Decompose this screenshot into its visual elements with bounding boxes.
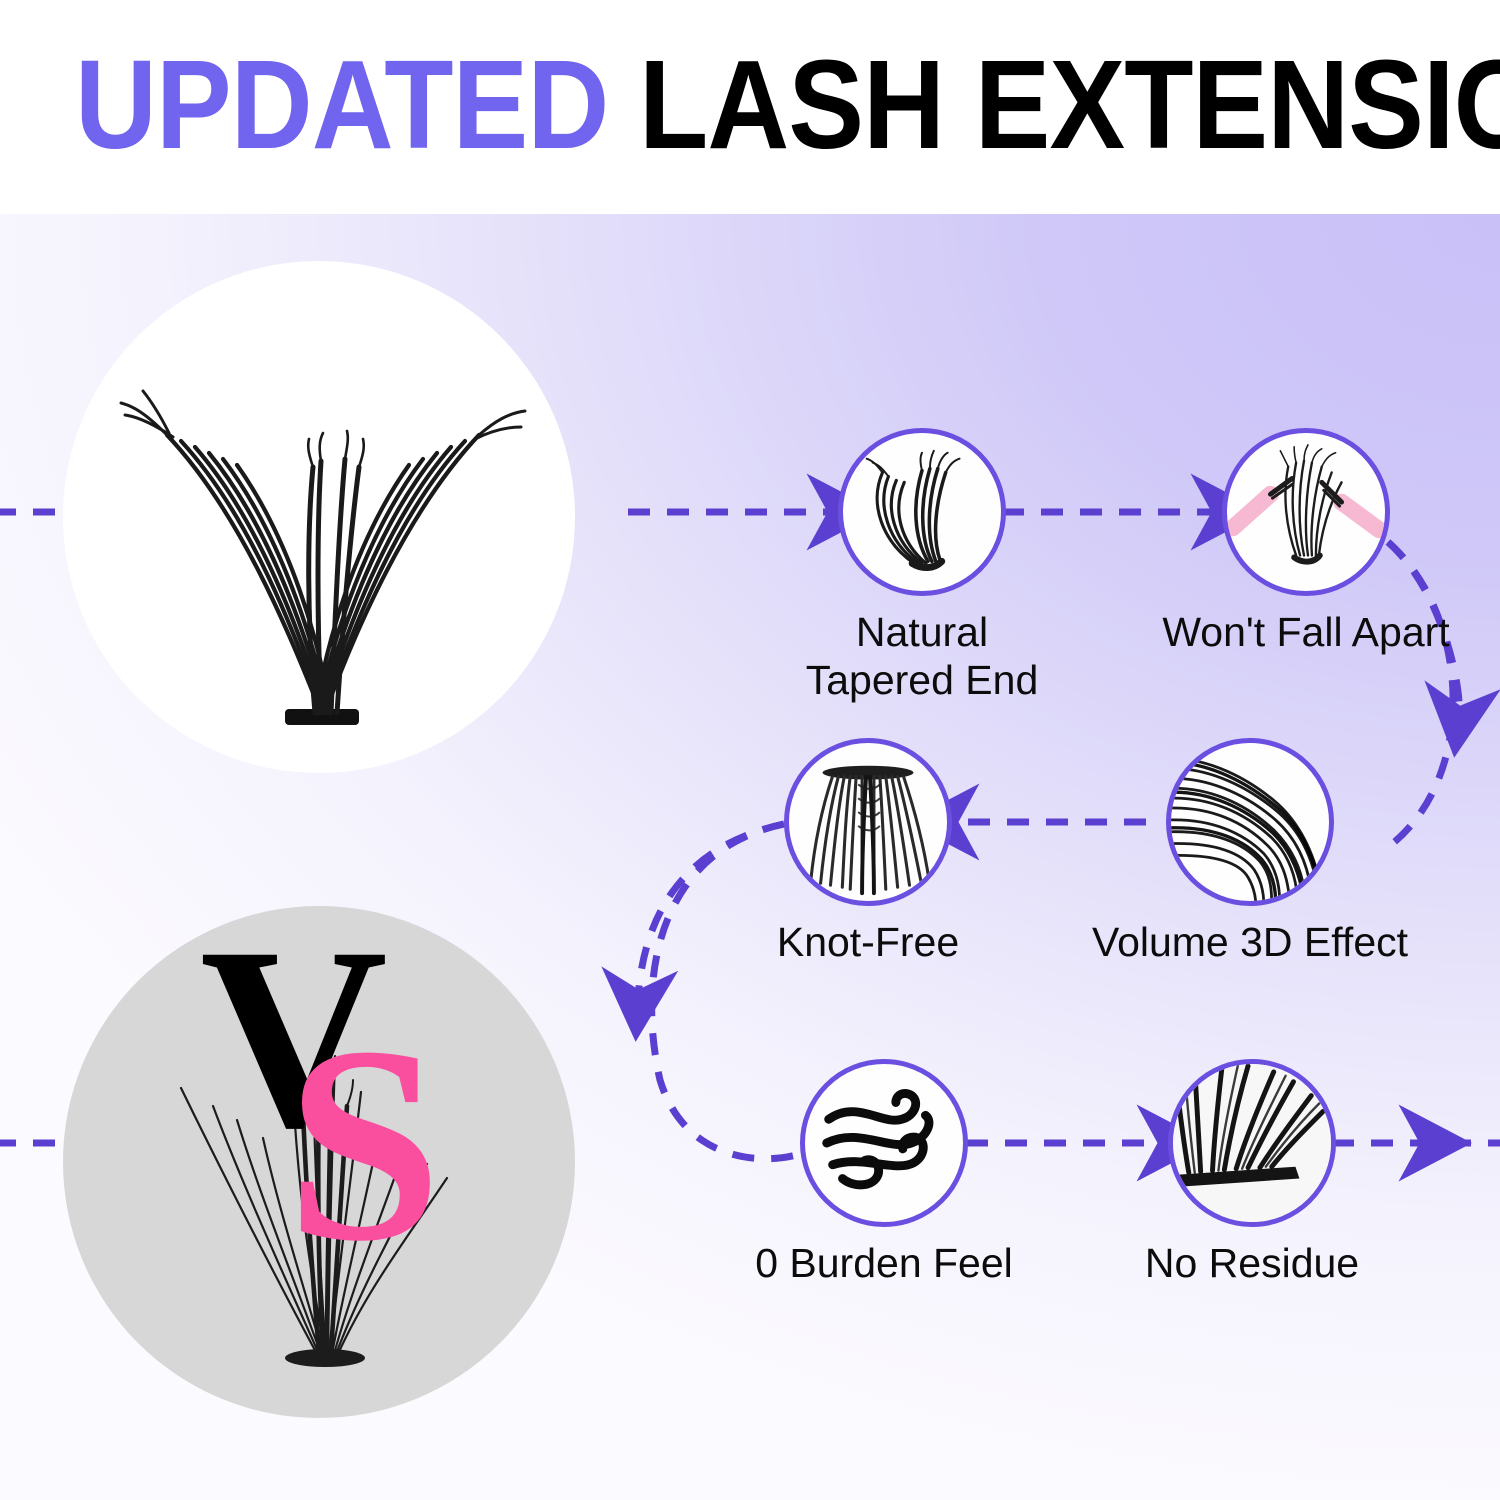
tweezer-left: [1233, 478, 1292, 527]
feature-icon-bubble: [800, 1059, 968, 1227]
wind-breeze-icon: [805, 1064, 963, 1222]
infographic-root: UPDATED LASH EXTENSION FIBERS: [0, 0, 1500, 1500]
feature-icon-bubble: [1222, 428, 1390, 596]
arrow-knot-free-to-burden: [652, 824, 800, 1159]
feature-label: No Residue: [1038, 1239, 1466, 1287]
feature-label: Won't Fall Apart: [1092, 608, 1500, 656]
page-title: UPDATED LASH EXTENSION FIBERS: [75, 42, 1425, 168]
header-bar: UPDATED LASH EXTENSION FIBERS: [0, 0, 1500, 214]
feature-label: Knot-Free: [654, 918, 1082, 966]
volume-lash-fan-icon: [1171, 743, 1329, 901]
feature-icon-bubble: [838, 428, 1006, 596]
comparison-circle-updated: [63, 261, 575, 773]
tweezers-pulling-lash-icon: [1227, 433, 1385, 591]
feature-icon-bubble: [1166, 738, 1334, 906]
feature-label: 0 Burden Feel: [670, 1239, 1098, 1287]
title-highlight-word: UPDATED: [75, 34, 608, 175]
content-panel: V S: [0, 214, 1500, 1500]
title-space: [608, 34, 639, 175]
updated-lash-cluster-photo: [63, 261, 575, 773]
clean-lash-band-icon: [1173, 1064, 1331, 1222]
arrow-knot-free-curve-seg: [638, 824, 784, 1000]
knot-free-lash-band-icon: [789, 743, 947, 901]
tapered-lash-fiber-icon: [843, 433, 1001, 591]
feature-icon-bubble: [784, 738, 952, 906]
feature-icon-bubble: [1168, 1059, 1336, 1227]
feature-label: Natural Tapered End: [708, 608, 1136, 704]
versus-letter-s: S: [286, 1004, 442, 1284]
feature-label: Volume 3D Effect: [1036, 918, 1464, 966]
title-rest-words: LASH EXTENSION FIBERS: [639, 34, 1500, 175]
